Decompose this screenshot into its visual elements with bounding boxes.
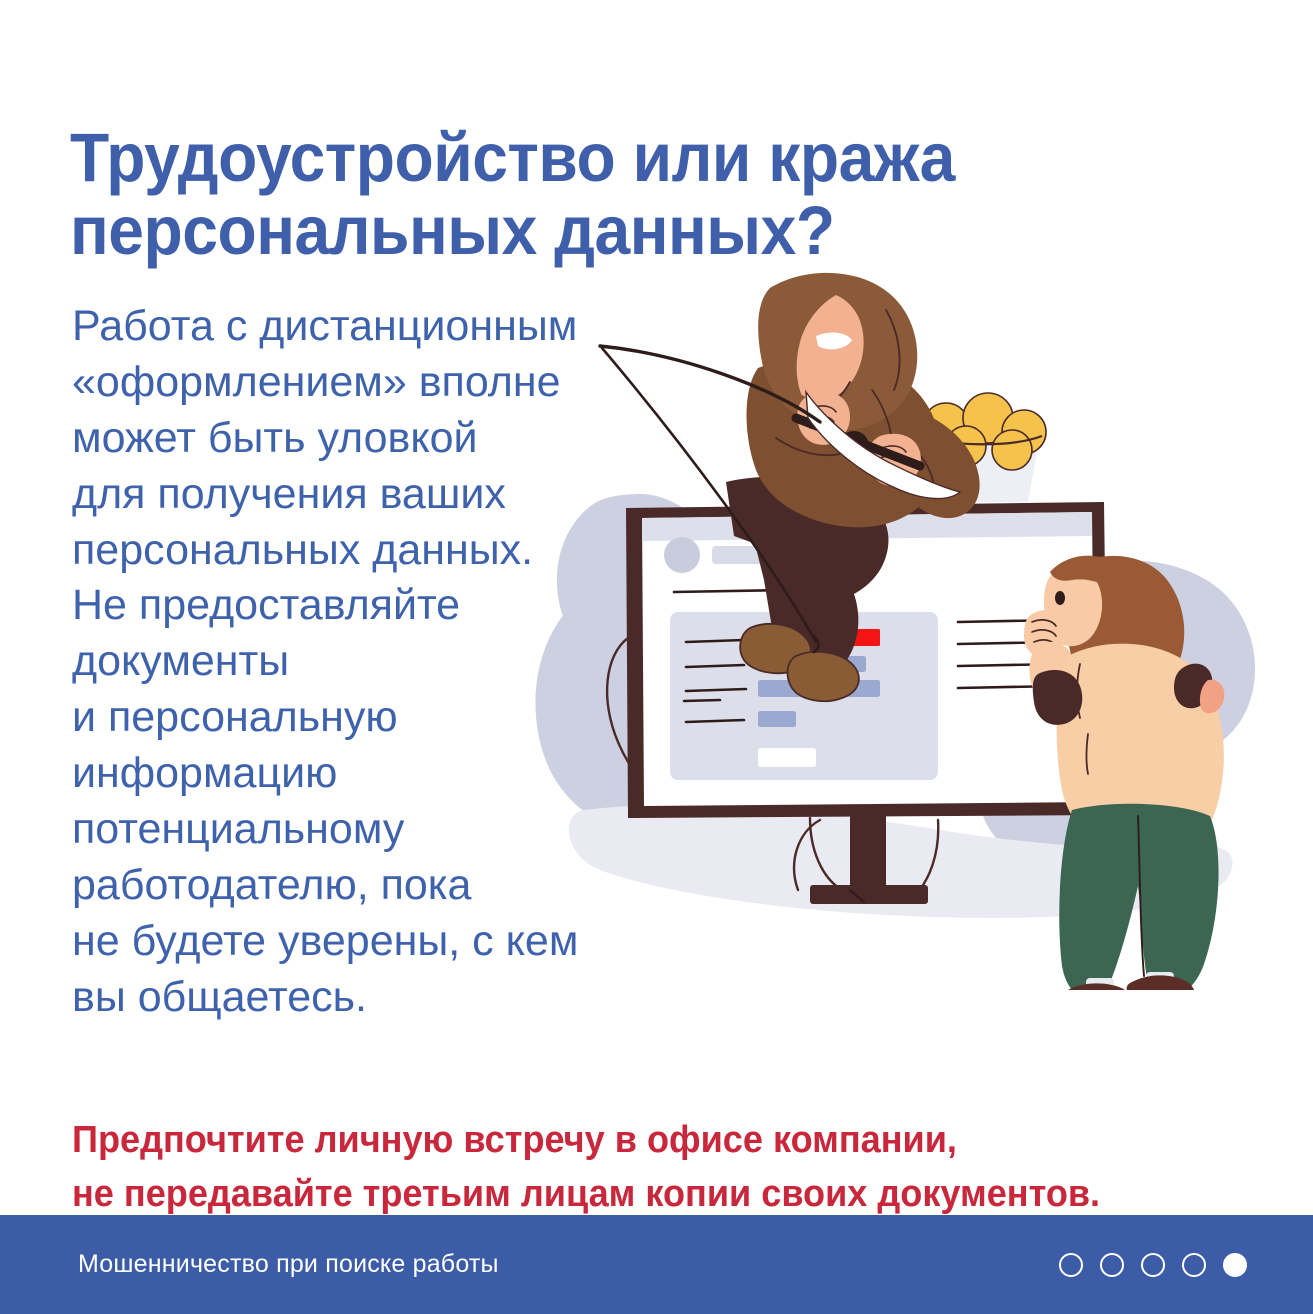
- coin-group: [923, 393, 1046, 470]
- scammer-face: [779, 290, 863, 400]
- background-blob-floor: [569, 805, 1233, 918]
- bucket-shading: [868, 468, 936, 488]
- screen-side-lines: [958, 620, 1060, 688]
- fishing-hook: [814, 636, 819, 652]
- coin-2: [963, 393, 1013, 443]
- cable-group: [607, 638, 938, 898]
- form-field-2a: [758, 656, 798, 672]
- warning-callout: Предпочтите личную встречу в офисе компа…: [72, 1114, 1184, 1222]
- cable-right: [912, 820, 938, 898]
- scammer-hood-rim: [767, 281, 838, 404]
- scammer-figure: [726, 273, 980, 701]
- woman-shoe-right: [1127, 975, 1195, 990]
- form-label-3a: [686, 689, 746, 691]
- woman-shirt: [1057, 644, 1224, 857]
- coin-bucket: [868, 393, 1046, 502]
- footer-bar: Мошенничество при поиске работы: [0, 1215, 1313, 1314]
- coin-4: [946, 426, 986, 466]
- form-slash: [808, 654, 816, 674]
- scammer-hood-folds: [820, 310, 900, 412]
- header-rule: [674, 590, 790, 592]
- woman-shoe-left: [1063, 983, 1133, 990]
- rod-sleeve: [806, 392, 960, 499]
- fishing-rod-shaft: [796, 418, 920, 466]
- woman-face: [1044, 567, 1102, 646]
- pagination-dot-4[interactable]: [1182, 1253, 1206, 1277]
- coin-3: [1002, 410, 1046, 454]
- worried-woman: [1024, 556, 1224, 990]
- form-label-3b: [684, 700, 720, 701]
- scammer-shoe-back: [740, 624, 811, 673]
- scammer-hands: [797, 392, 920, 486]
- woman-eye: [1055, 591, 1065, 605]
- form-field-3: [758, 680, 880, 697]
- woman-pants-seam: [1138, 816, 1144, 976]
- woman-fringe: [1050, 556, 1131, 610]
- coin-5: [992, 430, 1032, 470]
- form-label-1: [686, 640, 744, 642]
- woman-pants: [1059, 804, 1218, 990]
- woman-shirt-folds: [1077, 664, 1088, 774]
- avatar-placeholder: [664, 537, 700, 573]
- scammer-grin: [816, 333, 852, 350]
- scammer-arm-left: [755, 401, 847, 480]
- monitor-frame: [626, 502, 1108, 818]
- woman-hand-fingers: [1032, 620, 1056, 646]
- fishing-reel: [839, 431, 869, 461]
- form-panel: [670, 612, 938, 780]
- pagination-dot-5[interactable]: [1223, 1253, 1247, 1277]
- submit-button: [758, 748, 816, 767]
- scammer-hood: [758, 273, 917, 430]
- woman-sleeve-right: [1174, 664, 1212, 709]
- pagination-dots[interactable]: [1059, 1253, 1247, 1277]
- form-label-2: [686, 665, 744, 667]
- form-alert-bar: [758, 629, 880, 646]
- monitor-stand-base: [810, 885, 928, 904]
- scammer-leg-back: [746, 508, 839, 643]
- pagination-dot-2[interactable]: [1100, 1253, 1124, 1277]
- woman-shoulder-skin: [1200, 680, 1224, 714]
- body-paragraph: Работа с дистанционным «оформлением» впо…: [72, 299, 652, 1026]
- woman-arm: [1029, 642, 1074, 700]
- name-placeholder-bar: [712, 546, 786, 564]
- monitor-screen-top-tint: [642, 512, 1092, 541]
- woman-sock-left: [1086, 978, 1114, 990]
- woman-sock-right: [1146, 972, 1174, 988]
- form-field-4: [758, 711, 796, 727]
- form-label-4: [686, 720, 744, 722]
- hand-lower: [868, 434, 921, 487]
- footer-series-label: Мошенничество при поиске работы: [78, 1250, 499, 1279]
- cable-under-2: [794, 820, 820, 890]
- scammer-leg-front: [782, 552, 858, 679]
- hand-upper: [797, 392, 850, 445]
- infographic-poster: Трудоустройство или кража персональных д…: [0, 0, 1313, 1314]
- pagination-dot-1[interactable]: [1059, 1253, 1083, 1277]
- monitor-screen: [642, 512, 1095, 806]
- pagination-dot-3[interactable]: [1141, 1253, 1165, 1277]
- scammer-coat-folds: [776, 390, 934, 486]
- background-blob-right: [972, 560, 1255, 866]
- page-title: Трудоустройство или кража персональных д…: [70, 122, 1009, 267]
- monitor-stand-highlight: [850, 890, 864, 902]
- woman-sleeve-left: [1033, 670, 1082, 725]
- cable-under-1: [810, 818, 842, 890]
- scammer-shoe-front: [787, 652, 858, 701]
- woman-hand: [1024, 610, 1067, 657]
- form-field-2b: [824, 656, 866, 672]
- woman-hair-back: [1066, 556, 1185, 706]
- monitor: [626, 502, 1108, 904]
- scammer-coat: [747, 357, 941, 527]
- coin-1: [923, 403, 969, 449]
- scammer-arm-right: [868, 405, 980, 518]
- bucket-body: [920, 435, 1040, 502]
- bucket-rim: [918, 436, 1042, 444]
- monitor-stand-neck: [850, 815, 886, 887]
- scammer-trousers: [726, 477, 888, 605]
